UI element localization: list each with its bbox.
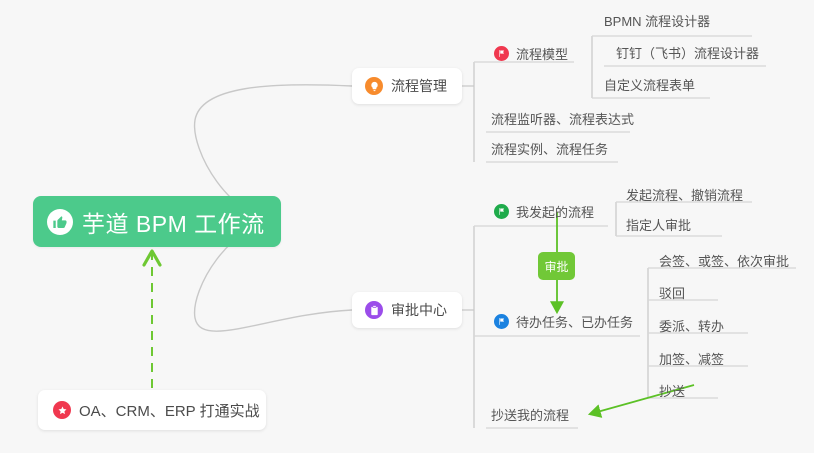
star-icon: [53, 401, 71, 419]
subnode-label-my-initiated-processes: 我发起的流程: [516, 202, 594, 221]
leaf-dingtalk-feishu-designer[interactable]: 钉钉（飞书）流程设计器: [616, 44, 759, 64]
subnode-label-process-model: 流程模型: [516, 44, 568, 63]
leaf-custom-process-form[interactable]: 自定义流程表单: [604, 76, 695, 96]
branch-node-process-management[interactable]: 流程管理: [352, 68, 462, 104]
root-node[interactable]: 芋道 BPM 工作流: [33, 196, 281, 247]
floating-node-label: OA、CRM、ERP 打通实战: [79, 400, 260, 421]
leaf-add-remove-sign[interactable]: 加签、减签: [659, 350, 724, 370]
mindmap-canvas: 芋道 BPM 工作流 流程管理 流程模型 BPMN 流程设计器 钉钉（飞书）流程…: [0, 0, 814, 453]
leaf-countersign-or-sequential[interactable]: 会签、或签、依次审批: [659, 252, 789, 272]
branch-node-approval-center[interactable]: 审批中心: [352, 292, 462, 328]
subnode-todo-done-tasks[interactable]: 待办任务、已办任务: [494, 310, 633, 332]
lightbulb-icon: [365, 77, 383, 95]
leaf-assignee-approval[interactable]: 指定人审批: [626, 216, 691, 236]
floating-node-integration[interactable]: OA、CRM、ERP 打通实战: [38, 390, 266, 430]
branch-label-approval-center: 审批中心: [391, 300, 447, 320]
thumbs-up-icon: [47, 209, 73, 235]
root-label: 芋道 BPM 工作流: [82, 205, 265, 239]
leaf-delegate-transfer[interactable]: 委派、转办: [659, 317, 724, 337]
subnode-my-initiated-processes[interactable]: 我发起的流程: [494, 200, 594, 222]
flag-icon: [494, 204, 509, 219]
flag-icon: [494, 314, 509, 329]
leaf-start-cancel-process[interactable]: 发起流程、撤销流程: [626, 186, 743, 206]
leaf-reject[interactable]: 驳回: [659, 284, 685, 304]
subnode-label-todo-done-tasks: 待办任务、已办任务: [516, 312, 633, 331]
annotation-label-approve: 审批: [538, 252, 575, 280]
flag-icon: [494, 46, 509, 61]
leaf-copied-to-me-processes[interactable]: 抄送我的流程: [491, 406, 569, 426]
leaf-bpmn-designer[interactable]: BPMN 流程设计器: [604, 12, 710, 32]
branch-label-process-management: 流程管理: [391, 76, 447, 96]
clipboard-icon: [365, 301, 383, 319]
leaf-carbon-copy[interactable]: 抄送: [659, 382, 685, 402]
subnode-process-model[interactable]: 流程模型: [494, 42, 568, 64]
leaf-instance-task[interactable]: 流程实例、流程任务: [491, 140, 608, 160]
leaf-listener-expression[interactable]: 流程监听器、流程表达式: [491, 110, 634, 130]
